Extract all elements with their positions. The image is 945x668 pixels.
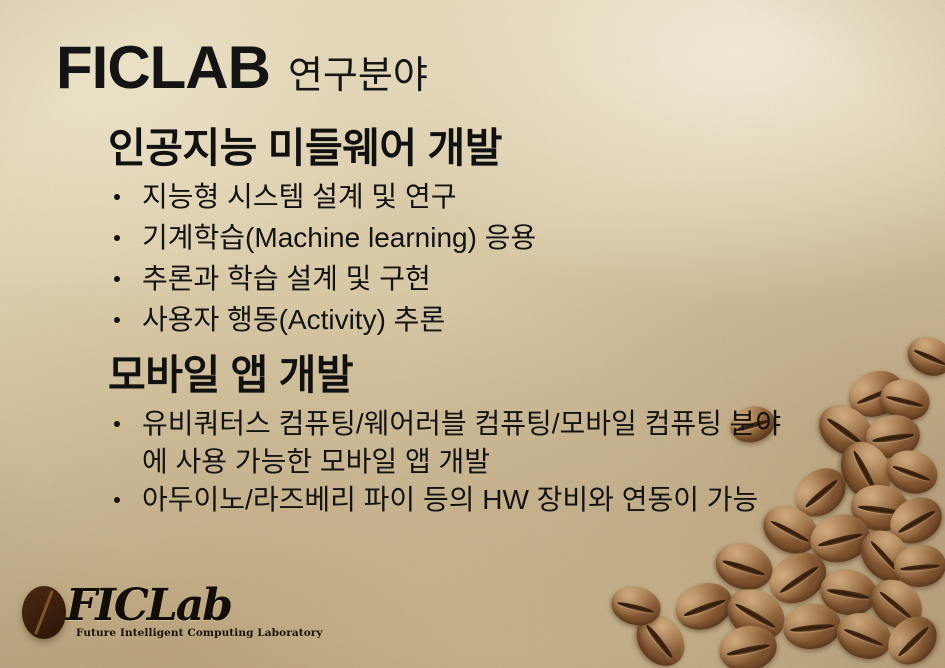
list-item: 추론과 학습 설계 및 구현 — [108, 258, 945, 299]
bullet-dot-icon — [114, 421, 120, 427]
list-item: 기계학습(Machine learning) 응용 — [108, 217, 945, 258]
bullet-list: 유비쿼터스 컴퓨팅/웨어러블 컴퓨팅/모바일 컴퓨팅 분야에 사용 가능한 모바… — [108, 405, 945, 519]
coffee-bean-icon — [22, 586, 66, 639]
section-heading: 모바일 앱 개발 — [108, 353, 945, 397]
title-subject: 연구분야 — [288, 57, 428, 95]
logo-wordmark: FICLab — [66, 586, 323, 626]
logo-text-block: FICLab Future Intelligent Computing Labo… — [66, 586, 323, 639]
bullet-dot-icon — [114, 317, 120, 323]
section-heading: 인공지능 미들웨어 개발 — [108, 126, 945, 170]
bullet-dot-icon — [114, 497, 120, 503]
bullet-dot-icon — [114, 276, 120, 282]
ficlab-logo: FICLab Future Intelligent Computing Labo… — [22, 586, 323, 639]
section-mobile-app: 모바일 앱 개발 유비쿼터스 컴퓨팅/웨어러블 컴퓨팅/모바일 컴퓨팅 분야에 … — [0, 353, 945, 519]
list-item: 사용자 행동(Activity) 추론 — [108, 299, 945, 340]
title-brand: FICLAB — [56, 38, 270, 98]
list-item-label: 지능형 시스템 설계 및 연구 — [142, 181, 456, 212]
list-item: 아두이노/라즈베리 파이 등의 HW 장비와 연동이 가능 — [108, 481, 782, 519]
list-item-label: 아두이노/라즈베리 파이 등의 HW 장비와 연동이 가능 — [142, 484, 758, 515]
bullet-dot-icon — [114, 194, 120, 200]
list-item-label: 추론과 학습 설계 및 구현 — [142, 263, 431, 294]
list-item: 지능형 시스템 설계 및 연구 — [108, 176, 945, 217]
slide-content: FICLAB 연구분야 인공지능 미들웨어 개발 지능형 시스템 설계 및 연구… — [0, 0, 945, 668]
list-item: 유비쿼터스 컴퓨팅/웨어러블 컴퓨팅/모바일 컴퓨팅 분야에 사용 가능한 모바… — [108, 405, 782, 481]
list-item-label: 기계학습(Machine learning) 응용 — [142, 222, 536, 253]
bullet-list: 지능형 시스템 설계 및 연구 기계학습(Machine learning) 응… — [108, 176, 945, 340]
logo-tagline: Future Intelligent Computing Laboratory — [76, 627, 323, 639]
bullet-dot-icon — [114, 235, 120, 241]
slide-canvas: FICLAB 연구분야 인공지능 미들웨어 개발 지능형 시스템 설계 및 연구… — [0, 0, 945, 668]
list-item-label: 유비쿼터스 컴퓨팅/웨어러블 컴퓨팅/모바일 컴퓨팅 분야에 사용 가능한 모바… — [142, 408, 781, 477]
section-ai-middleware: 인공지능 미들웨어 개발 지능형 시스템 설계 및 연구 기계학습(Machin… — [0, 126, 945, 340]
list-item-label: 사용자 행동(Activity) 추론 — [142, 304, 445, 335]
slide-title: FICLAB 연구분야 — [56, 38, 428, 98]
